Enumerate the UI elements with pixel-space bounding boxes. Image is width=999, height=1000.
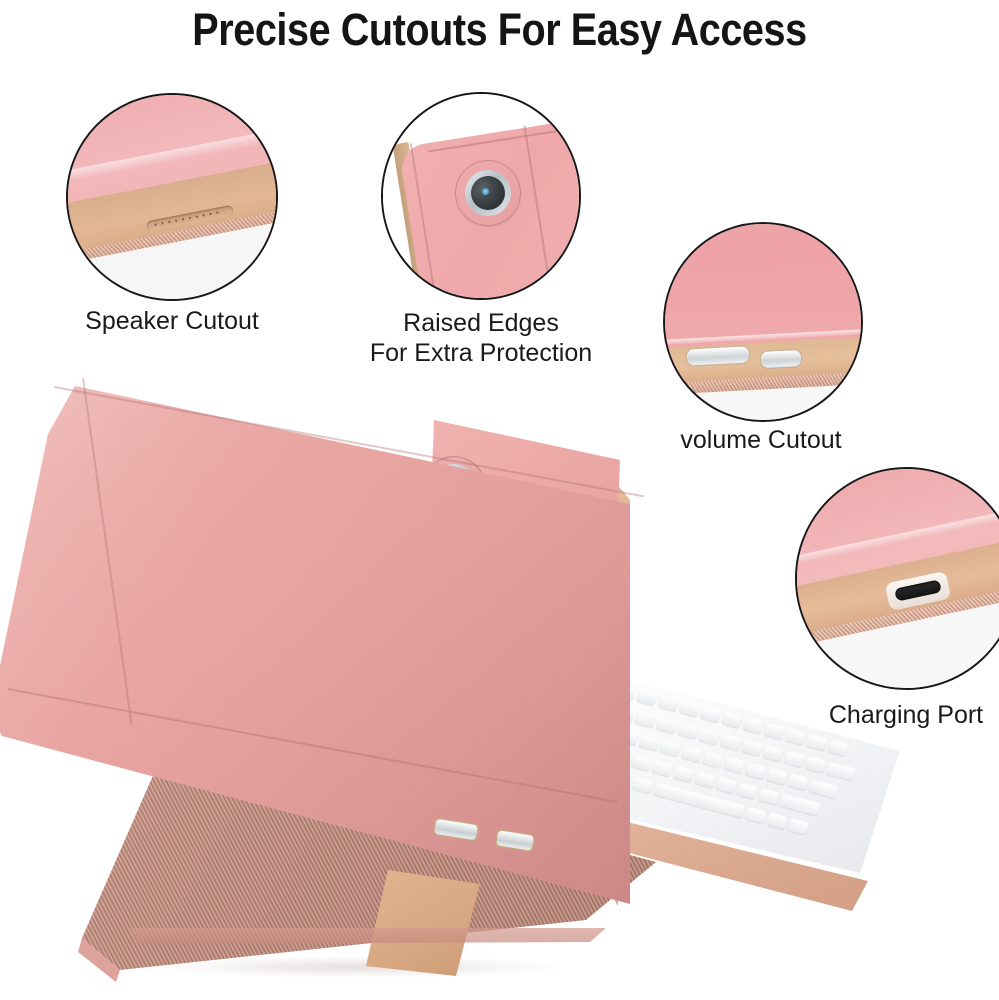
key — [758, 788, 780, 805]
key — [741, 739, 763, 756]
key — [764, 722, 786, 739]
key — [827, 739, 849, 756]
key — [673, 765, 695, 782]
key — [806, 734, 828, 751]
key — [745, 762, 767, 779]
key — [745, 806, 767, 823]
key — [742, 717, 764, 734]
key — [720, 733, 742, 750]
key — [788, 818, 810, 835]
key — [721, 711, 743, 728]
key — [677, 722, 699, 739]
key — [694, 771, 716, 788]
key — [715, 776, 737, 793]
key — [678, 700, 700, 717]
callout-circle-speaker — [66, 93, 278, 301]
key — [805, 756, 827, 773]
volume-up-button-icon — [687, 346, 750, 365]
key — [698, 728, 720, 745]
base-lip — [120, 928, 620, 946]
infographic-canvas: Precise Cutouts For Easy Access Speaker … — [0, 0, 999, 1000]
product-photo — [0, 370, 920, 1000]
key — [787, 773, 809, 790]
raised-edges-photo — [383, 94, 579, 298]
page-title: Precise Cutouts For Easy Access — [60, 4, 939, 56]
callout-label-speaker: Speaker Cutout — [26, 306, 318, 336]
product-shadow — [150, 956, 570, 978]
key — [700, 705, 722, 722]
key — [762, 745, 784, 762]
key — [766, 768, 788, 785]
key — [779, 793, 821, 816]
key — [681, 745, 703, 762]
speaker-cutout-photo — [68, 95, 276, 299]
key — [766, 812, 788, 829]
callout-circle-raised-edges — [381, 92, 581, 300]
camera-lens-glint — [482, 188, 489, 195]
key — [826, 761, 856, 781]
callout-label-raised-edges: Raised Edges For Extra Protection — [335, 308, 627, 368]
key — [784, 750, 806, 767]
key — [808, 779, 838, 799]
key — [737, 782, 759, 799]
key — [785, 728, 807, 745]
key — [702, 751, 724, 768]
key — [723, 756, 745, 773]
volume-down-button-icon — [761, 350, 802, 368]
